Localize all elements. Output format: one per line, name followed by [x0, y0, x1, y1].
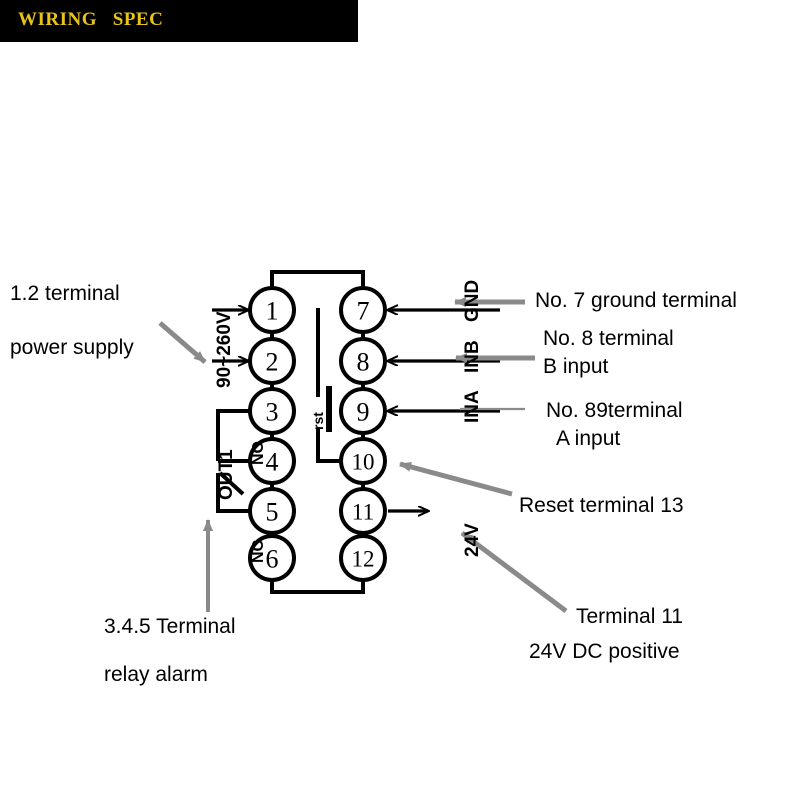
terminal-number: 9 — [357, 398, 370, 427]
terminal-number: 7 — [357, 297, 370, 326]
terminal-1[interactable]: 1 — [250, 288, 294, 332]
annotation-relay-alarm-line1: 3.4.5 Terminal — [104, 612, 236, 642]
label-voltage-range: 90~260V — [214, 311, 236, 388]
annotation-relay-alarm-line2: relay alarm — [104, 660, 208, 690]
terminal-8[interactable]: 8 — [341, 339, 385, 383]
terminal-11[interactable]: 11 — [341, 489, 385, 533]
page-root: WIRING SPEC — [0, 0, 800, 800]
label-ina: INA — [462, 390, 484, 423]
label-nc: NC — [250, 540, 268, 563]
terminal-9[interactable]: 9 — [341, 389, 385, 433]
annotation-b-input-line1: No. 8 terminal — [543, 324, 674, 354]
label-inb: INB — [462, 340, 484, 373]
terminal-number: 8 — [357, 348, 370, 377]
annotation-b-input-line2: B input — [543, 352, 608, 382]
annotation-a-input-line2: A input — [556, 424, 620, 454]
terminal-2[interactable]: 2 — [250, 339, 294, 383]
terminal-number: 11 — [352, 500, 374, 525]
terminal-number: 1 — [266, 297, 279, 326]
rst-lower-leg — [318, 428, 341, 461]
label-gnd: GND — [462, 280, 484, 322]
reset-jumper — [318, 308, 341, 461]
annotation-a-input-line1: No. 89terminal — [546, 396, 683, 426]
annotation-dc-positive-line2: 24V DC positive — [529, 637, 680, 667]
annotation-ground-terminal: No. 7 ground terminal — [535, 286, 737, 316]
terminal-12[interactable]: 12 — [341, 536, 385, 580]
terminal-3[interactable]: 3 — [250, 389, 294, 433]
terminal-10[interactable]: 10 — [341, 439, 385, 483]
rst-bracket — [326, 386, 332, 432]
terminal-number: 12 — [352, 547, 375, 572]
bottom-rail — [272, 580, 363, 592]
terminal-7[interactable]: 7 — [341, 288, 385, 332]
arrow-power-supply — [160, 323, 205, 362]
label-out1: OUT1 — [216, 449, 238, 500]
label-no: NO — [250, 441, 268, 465]
arrow-reset-terminal — [400, 464, 512, 494]
annotation-reset-terminal: Reset terminal 13 — [519, 491, 684, 521]
terminal-number: 10 — [352, 450, 375, 475]
label-rst: rst — [310, 412, 326, 430]
annotation-dc-positive-line1: Terminal 11 — [576, 602, 683, 632]
top-rail — [272, 272, 363, 288]
terminal-5[interactable]: 5 — [250, 489, 294, 533]
label-24v: 24V — [462, 523, 484, 557]
terminal-number: 2 — [266, 348, 279, 377]
annotation-power-supply-line2: power supply — [10, 333, 134, 363]
terminal-number: 3 — [266, 398, 279, 427]
terminal-number: 5 — [266, 498, 279, 527]
annotation-power-supply-line1: 1.2 terminal — [10, 279, 120, 309]
